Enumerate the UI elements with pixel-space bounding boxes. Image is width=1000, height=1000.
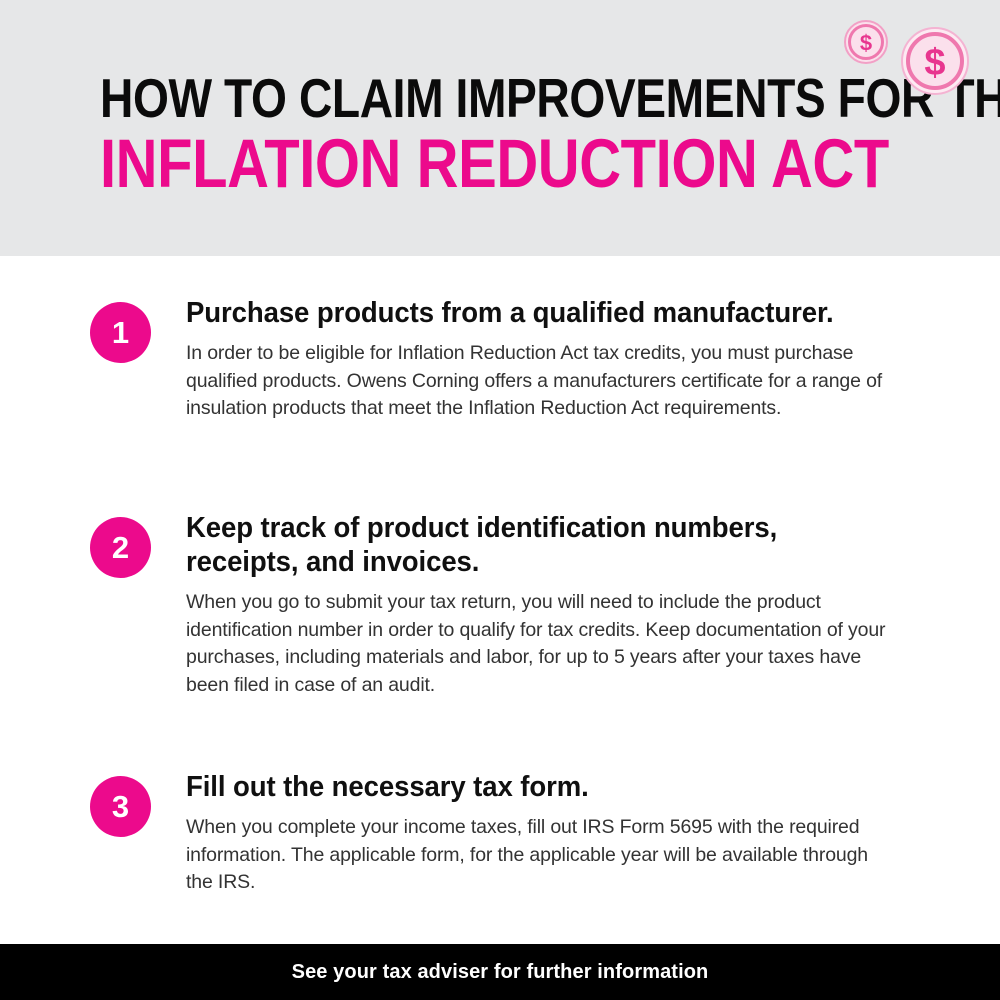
step-number-badge-2: 2 bbox=[90, 517, 151, 578]
step-content-3: Fill out the necessary tax form. When yo… bbox=[186, 771, 886, 897]
dollar-coin-icon-large: $ bbox=[898, 24, 972, 98]
footer-disclaimer-text: See your tax adviser for further informa… bbox=[292, 961, 709, 984]
footer-bar: See your tax adviser for further informa… bbox=[0, 944, 1000, 1000]
step-heading-1: Purchase products from a qualified manuf… bbox=[186, 297, 851, 331]
step-heading-2: Keep track of product identification num… bbox=[186, 512, 851, 580]
infographic-page: HOW TO CLAIM IMPROVEMENTS FOR THE INFLAT… bbox=[0, 0, 1000, 1000]
step-number-badge-3: 3 bbox=[90, 776, 151, 837]
svg-text:$: $ bbox=[860, 31, 872, 56]
title-line-secondary: INFLATION REDUCTION ACT bbox=[100, 131, 764, 197]
svg-text:$: $ bbox=[924, 42, 945, 84]
step-content-1: Purchase products from a qualified manuf… bbox=[186, 297, 886, 423]
header-banner: HOW TO CLAIM IMPROVEMENTS FOR THE INFLAT… bbox=[0, 0, 1000, 256]
step-text-3: When you complete your income taxes, fil… bbox=[186, 814, 886, 897]
step-text-1: In order to be eligible for Inflation Re… bbox=[186, 340, 886, 423]
dollar-coin-icon-small: $ bbox=[842, 18, 890, 66]
step-text-2: When you go to submit your tax return, y… bbox=[186, 589, 886, 700]
step-number-badge-1: 1 bbox=[90, 302, 151, 363]
step-heading-3: Fill out the necessary tax form. bbox=[186, 771, 851, 805]
step-content-2: Keep track of product identification num… bbox=[186, 512, 886, 700]
page-title: HOW TO CLAIM IMPROVEMENTS FOR THE INFLAT… bbox=[100, 72, 890, 197]
title-line-primary: HOW TO CLAIM IMPROVEMENTS FOR THE bbox=[100, 72, 764, 125]
